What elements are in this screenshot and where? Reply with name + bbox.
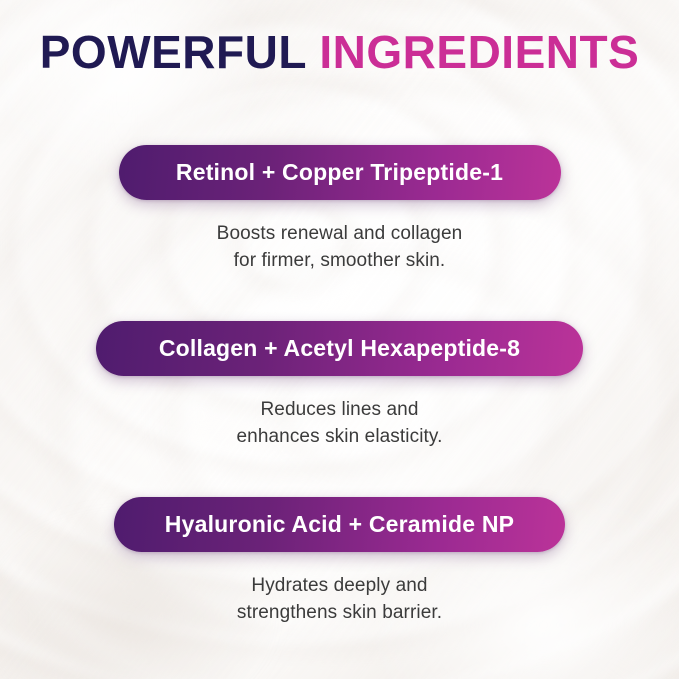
ingredient-block: Collagen + Acetyl Hexapeptide-8 Reduces …	[0, 321, 679, 451]
ingredient-block: Hyaluronic Acid + Ceramide NP Hydrates d…	[0, 497, 679, 627]
page-title-accent: INGREDIENTS	[319, 26, 639, 78]
ingredient-pill-retinol[interactable]: Retinol + Copper Tripeptide-1	[119, 145, 561, 200]
ingredient-description-hyaluronic-acid: Hydrates deeply and strengthens skin bar…	[237, 573, 442, 627]
ingredient-pill-hyaluronic-acid[interactable]: Hyaluronic Acid + Ceramide NP	[114, 497, 565, 552]
ingredient-block: Retinol + Copper Tripeptide-1 Boosts ren…	[0, 145, 679, 275]
ingredients-poster: POWERFUL INGREDIENTS Retinol + Copper Tr…	[0, 0, 679, 679]
ingredient-pill-collagen[interactable]: Collagen + Acetyl Hexapeptide-8	[96, 321, 583, 376]
poster-content: POWERFUL INGREDIENTS Retinol + Copper Tr…	[0, 0, 679, 679]
ingredient-description-collagen: Reduces lines and enhances skin elastici…	[237, 397, 443, 451]
page-title-space	[306, 26, 319, 78]
ingredient-block-list: Retinol + Copper Tripeptide-1 Boosts ren…	[0, 145, 679, 627]
page-title-primary: POWERFUL	[40, 26, 306, 78]
page-title: POWERFUL INGREDIENTS	[40, 28, 640, 76]
ingredient-description-retinol: Boosts renewal and collagen for firmer, …	[217, 221, 463, 275]
